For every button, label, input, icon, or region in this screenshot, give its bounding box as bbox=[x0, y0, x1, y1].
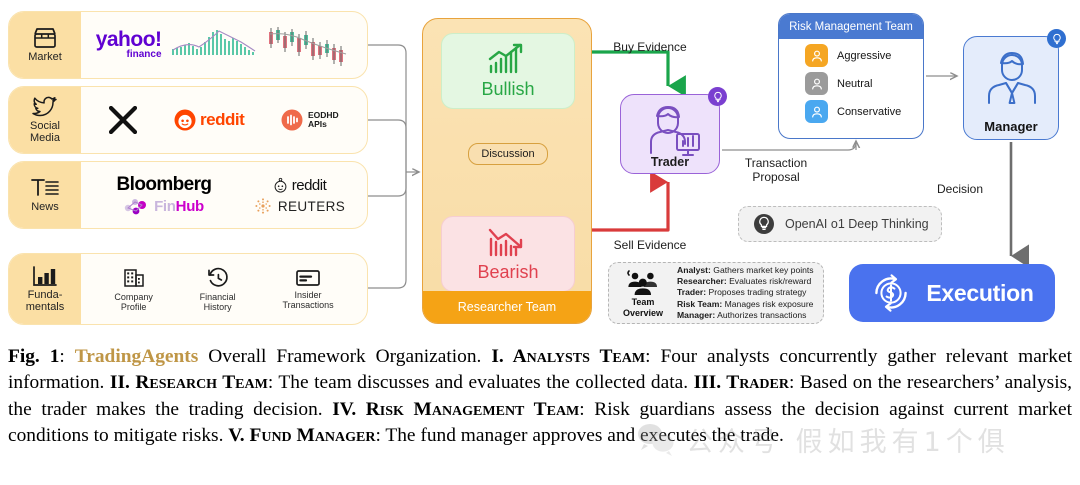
edge-label-buy-evidence: Buy Evidence bbox=[600, 40, 700, 54]
source-items-news: Bloomberg reddit bbox=[81, 162, 367, 228]
source-category-social-media: Social Media bbox=[9, 87, 81, 153]
reddit-wordmark-dark: reddit bbox=[292, 177, 327, 194]
caption-figure-number: Fig. 1 bbox=[8, 346, 59, 367]
source-row-social-media[interactable]: Social Media reddit bbox=[8, 86, 368, 154]
caption-lead: Overall Framework Organization. bbox=[198, 346, 491, 367]
bearish-card[interactable]: Bearish bbox=[441, 216, 575, 292]
fundamental-label: Financial History bbox=[200, 292, 236, 312]
reuters-logo: REUTERS bbox=[239, 196, 359, 216]
risk-member-aggressive[interactable]: Aggressive bbox=[779, 39, 923, 67]
risk-member-neutral[interactable]: Neutral bbox=[779, 67, 923, 95]
caption-section-5: V. Fund Manager bbox=[228, 425, 375, 446]
source-items-market: yahoo! finance bbox=[81, 12, 367, 78]
transaction-proposal-line1: Transaction bbox=[745, 156, 807, 170]
reddit-mark-outline-icon bbox=[272, 177, 289, 194]
risk-member-label: Conservative bbox=[837, 106, 901, 118]
overview-desc: Gathers market key points bbox=[713, 265, 813, 275]
overview-role: Researcher: bbox=[677, 276, 727, 286]
finhub-wordmark: FinHub bbox=[154, 198, 204, 215]
caption-body-5: : The fund manager approves and executes… bbox=[376, 425, 784, 446]
edge-label-sell-evidence: Sell Evidence bbox=[600, 238, 700, 252]
bullish-label: Bullish bbox=[481, 79, 534, 100]
bloomberg-logo: Bloomberg bbox=[89, 174, 239, 196]
caption-body-2: : The team discusses and evaluates the c… bbox=[268, 372, 694, 393]
lightbulb-icon bbox=[1047, 29, 1066, 48]
bearish-label: Bearish bbox=[477, 262, 538, 283]
yahoo-finance-sub: finance bbox=[96, 49, 162, 60]
source-category-fundamentals: Funda- mentals bbox=[9, 254, 81, 324]
caption-colon: : bbox=[59, 346, 74, 367]
avatar-conservative-icon bbox=[805, 100, 828, 123]
eodhd-mark-icon bbox=[281, 109, 303, 131]
source-category-label: Funda- mentals bbox=[26, 289, 65, 313]
source-items-fundamentals: Company Profile Financial History Inside… bbox=[81, 254, 367, 324]
trader-label: Trader bbox=[651, 155, 689, 169]
bullish-trend-icon bbox=[486, 42, 530, 78]
fundamental-financial-history[interactable]: Financial History bbox=[200, 266, 236, 312]
execution-label: Execution bbox=[926, 280, 1033, 307]
overview-desc: Authorizes transactions bbox=[717, 310, 806, 320]
overview-row: Trader: Proposes trading strategy bbox=[677, 287, 814, 298]
overview-role: Manager: bbox=[677, 310, 715, 320]
overview-role: Risk Team: bbox=[677, 299, 722, 309]
overview-desc: Manages risk exposure bbox=[725, 299, 814, 309]
openai-deep-thinking-badge[interactable]: OpenAI o1 Deep Thinking bbox=[738, 206, 942, 242]
source-row-market[interactable]: Market yahoo! finance bbox=[8, 11, 368, 79]
trader-node[interactable]: Trader bbox=[620, 94, 720, 174]
overview-row: Researcher: Evaluates risk/reward bbox=[677, 276, 814, 287]
manager-node[interactable]: Manager bbox=[963, 36, 1059, 140]
source-category-label: Social Media bbox=[30, 120, 60, 144]
fundamental-company-profile[interactable]: Company Profile bbox=[114, 266, 153, 312]
reddit-mark-icon bbox=[174, 109, 196, 131]
trader-person-icon bbox=[632, 101, 710, 157]
source-category-label: News bbox=[31, 201, 59, 213]
twitter-bird-icon bbox=[32, 96, 58, 118]
fundamental-label: Company Profile bbox=[114, 292, 153, 312]
finhub-mark-icon bbox=[124, 196, 150, 216]
framework-diagram: Market yahoo! finance bbox=[0, 0, 1080, 340]
source-category-market: Market bbox=[9, 12, 81, 78]
overview-row: Manager: Authorizes transactions bbox=[677, 310, 814, 321]
risk-management-team-panel[interactable]: Risk Management Team Aggressive Neutral … bbox=[778, 13, 924, 139]
bearish-trend-icon bbox=[486, 225, 530, 261]
manager-label: Manager bbox=[984, 119, 1037, 134]
lightbulb-circle-icon bbox=[753, 213, 775, 235]
fundamental-label: Insider Transactions bbox=[282, 290, 333, 310]
chart-candlestick-icon bbox=[266, 22, 352, 68]
lightbulb-icon bbox=[708, 87, 727, 106]
source-row-news[interactable]: News Bloomberg reddit bbox=[8, 161, 368, 229]
storefront-icon bbox=[32, 27, 58, 49]
edge-label-decision: Decision bbox=[920, 182, 1000, 196]
fundamental-insider-transactions[interactable]: Insider Transactions bbox=[282, 268, 333, 310]
caption-section-2: II. Research Team bbox=[110, 372, 268, 393]
avatar-neutral-icon bbox=[805, 72, 828, 95]
yahoo-finance-logo: yahoo! finance bbox=[96, 30, 162, 60]
overview-role: Analyst: bbox=[677, 265, 711, 275]
caption-section-3: III. Trader bbox=[694, 372, 789, 393]
team-overview-title: Team Overview bbox=[616, 268, 670, 318]
figure-caption: Fig. 1: TradingAgents Overall Framework … bbox=[8, 344, 1072, 449]
source-category-news: News bbox=[9, 162, 81, 228]
avatar-aggressive-icon bbox=[805, 44, 828, 67]
risk-team-title: Risk Management Team bbox=[779, 14, 923, 39]
caption-brand: TradingAgents bbox=[75, 346, 199, 367]
overview-row: Analyst: Gathers market key points bbox=[677, 265, 814, 276]
team-overview-rows: Analyst: Gathers market key points Resea… bbox=[677, 265, 814, 321]
eodhd-wordmark: EODHDAPIs bbox=[308, 111, 339, 130]
chart-green-histogram-icon bbox=[171, 25, 257, 65]
overview-desc: Evaluates risk/reward bbox=[729, 276, 811, 286]
team-overview-legend: Team Overview Analyst: Gathers market ke… bbox=[608, 262, 824, 324]
finhub-logo: FinHub bbox=[89, 196, 239, 216]
overview-row: Risk Team: Manages risk exposure bbox=[677, 299, 814, 310]
overview-role: Trader: bbox=[677, 287, 706, 297]
discussion-pill[interactable]: Discussion bbox=[468, 143, 548, 165]
eodhd-logo: EODHDAPIs bbox=[281, 109, 339, 131]
overview-desc: Proposes trading strategy bbox=[709, 287, 807, 297]
edge-label-transaction-proposal: Transaction Proposal bbox=[724, 156, 828, 184]
reuters-wordmark: REUTERS bbox=[278, 199, 345, 214]
source-row-fundamentals[interactable]: Funda- mentals Company Profile bbox=[8, 253, 368, 325]
team-overview-title-line2: Overview bbox=[623, 308, 663, 318]
transaction-proposal-line2: Proposal bbox=[752, 170, 799, 184]
article-icon bbox=[31, 177, 59, 199]
reddit-logo: reddit bbox=[174, 109, 244, 131]
reddit-logo-dark: reddit bbox=[239, 177, 359, 194]
openai-badge-label: OpenAI o1 Deep Thinking bbox=[785, 217, 929, 231]
bar-chart-icon bbox=[32, 265, 58, 287]
card-icon bbox=[295, 268, 321, 288]
risk-member-label: Aggressive bbox=[837, 50, 891, 62]
team-overview-title-line1: Team bbox=[632, 297, 655, 307]
bullish-card[interactable]: Bullish bbox=[441, 33, 575, 109]
researcher-team-footer: Researcher Team bbox=[423, 291, 591, 323]
researcher-team-panel[interactable]: Bullish Bearish Researcher Team bbox=[422, 18, 592, 324]
reuters-mark-icon bbox=[253, 196, 273, 216]
caption-section-1: I. Analysts Team bbox=[491, 346, 645, 367]
people-group-icon bbox=[625, 268, 661, 296]
execution-node[interactable]: Execution bbox=[849, 264, 1055, 322]
manager-person-icon bbox=[977, 45, 1047, 111]
risk-member-label: Neutral bbox=[837, 78, 872, 90]
risk-member-conservative[interactable]: Conservative bbox=[779, 95, 923, 123]
reddit-wordmark: reddit bbox=[200, 110, 244, 130]
history-clock-icon bbox=[206, 266, 230, 290]
dollar-refresh-icon bbox=[870, 272, 912, 314]
source-items-social-media: reddit EODHDAPIs bbox=[81, 87, 367, 153]
caption-section-4: IV. Risk Management Team bbox=[332, 399, 579, 420]
building-icon bbox=[122, 266, 146, 290]
source-category-label: Market bbox=[28, 51, 62, 63]
x-logo-icon bbox=[109, 106, 137, 134]
